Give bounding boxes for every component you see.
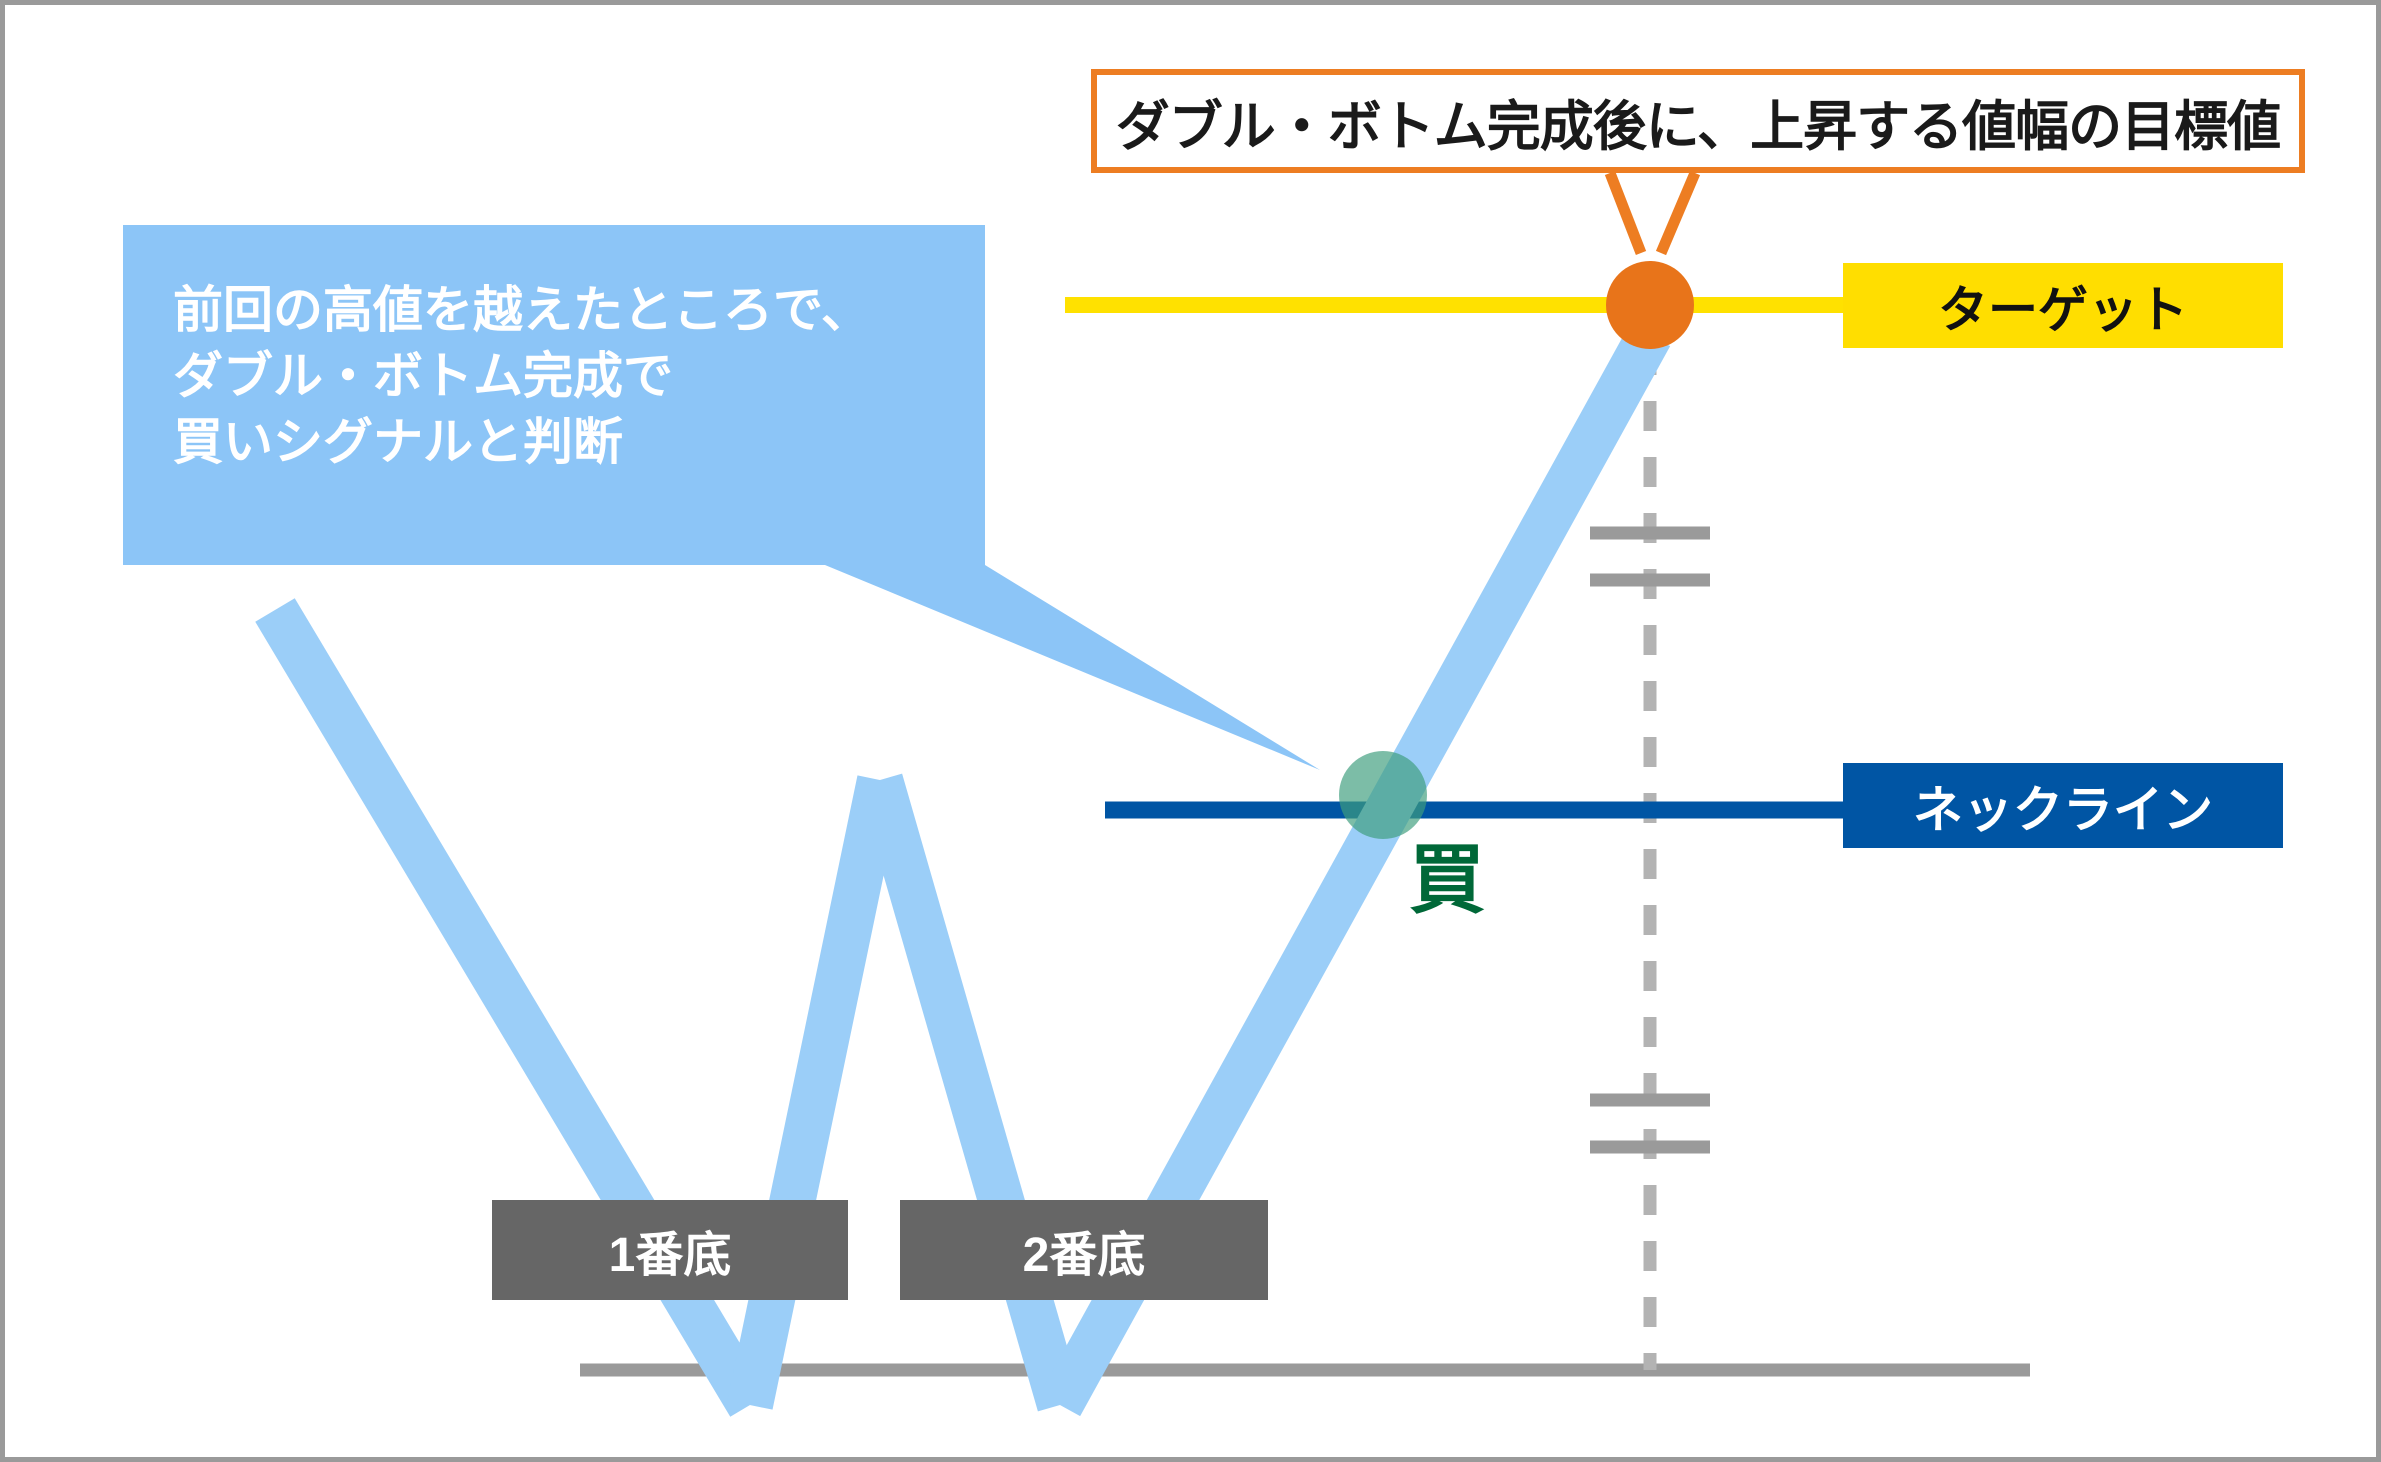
bottom-1-label-chip: 1番底 bbox=[492, 1200, 848, 1300]
buy-marker-label: 買 bbox=[1409, 843, 1485, 919]
buy-marker-dot bbox=[1339, 751, 1427, 839]
target-callout-text: ダブル・ボトム完成後に、上昇する値幅の目標値 bbox=[1116, 82, 2280, 161]
signal-callout-box: 前回の高値を越えたところで、 ダブル・ボトム完成で 買いシグナルと判断 bbox=[123, 225, 985, 565]
target-legend-chip: ターゲット bbox=[1843, 263, 2283, 348]
bottom-2-label-chip: 2番底 bbox=[900, 1200, 1268, 1300]
signal-callout-tail bbox=[825, 565, 1320, 770]
target-marker-dot bbox=[1606, 261, 1694, 349]
signal-callout-line-1: 前回の高値を越えたところで、 bbox=[173, 277, 985, 343]
chart-canvas: ダブル・ボトム完成後に、上昇する値幅の目標値 前回の高値を越えたところで、 ダブ… bbox=[0, 0, 2381, 1462]
bottom-2-label: 2番底 bbox=[1023, 1215, 1146, 1285]
bottom-1-label: 1番底 bbox=[609, 1215, 732, 1285]
signal-callout-line-2: ダブル・ボトム完成で bbox=[173, 343, 985, 409]
neckline-legend-chip: ネックライン bbox=[1843, 763, 2283, 848]
target-callout-leader bbox=[1610, 173, 1695, 253]
signal-callout-line-3: 買いシグナルと判断 bbox=[173, 409, 985, 475]
target-callout-box: ダブル・ボトム完成後に、上昇する値幅の目標値 bbox=[1091, 69, 2305, 173]
neckline-legend-label: ネックライン bbox=[1913, 770, 2213, 842]
target-legend-label: ターゲット bbox=[1938, 270, 2188, 342]
